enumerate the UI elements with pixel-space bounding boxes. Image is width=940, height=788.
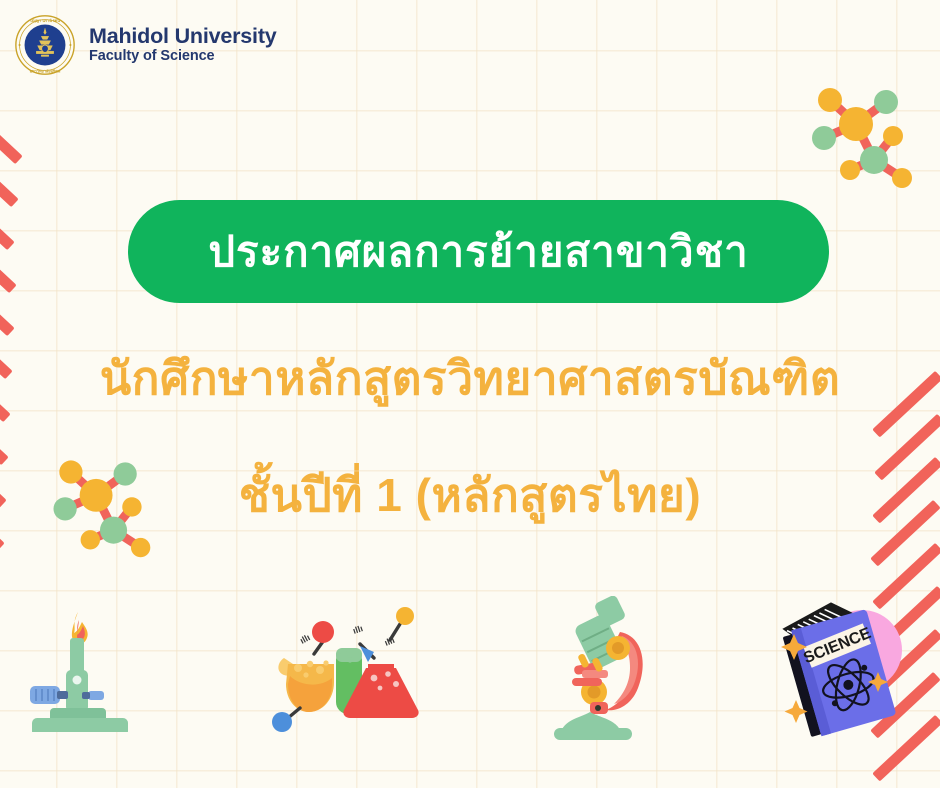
org-name: Mahidol University	[89, 24, 277, 48]
stripe	[0, 183, 15, 250]
stripe	[0, 269, 15, 336]
stripe	[872, 543, 940, 610]
brand-text: Mahidol University Faculty of Science	[89, 24, 277, 66]
svg-text:ıllı: ıllı	[383, 635, 396, 648]
stripe	[0, 140, 19, 207]
org-unit: Faculty of Science	[89, 48, 277, 64]
university-header: ปญฺญา นรานํ รตนํ มหาวิทยาลัยมหิดล Mahido…	[14, 14, 277, 76]
stripe	[872, 715, 940, 782]
stripe	[0, 398, 9, 465]
banner-title: ประกาศผลการย้ายสาขาวิชา	[208, 231, 748, 273]
headline-line-2: ชั้นปีที่ 1 (หลักสูตรไทย)	[0, 472, 940, 518]
stripe	[874, 586, 940, 653]
book-cover-title: SCIENCE	[801, 625, 874, 668]
mahidol-seal-icon: ปญฺญา นรานํ รตนํ มหาวิทยาลัยมหิดล	[14, 14, 76, 76]
svg-text:ıllı: ıllı	[298, 632, 312, 646]
announcement-banner: ประกาศผลการย้ายสาขาวิชา	[128, 200, 829, 303]
decorative-stripes-right	[866, 414, 940, 788]
stripe	[0, 97, 23, 164]
stripe	[874, 414, 940, 481]
decorative-stripes-left	[0, 96, 86, 496]
molecule-illustration-top-right	[796, 74, 922, 192]
microscope-illustration	[546, 596, 674, 742]
lab-glassware-illustration: ıllı ıllı ıllı	[262, 602, 434, 738]
stripe	[0, 226, 17, 293]
science-book-illustration: SCIENCE	[776, 596, 916, 738]
stripe	[870, 672, 940, 739]
stripe	[872, 629, 940, 696]
headline-line-1: นักศึกษาหลักสูตรวิทยาศาสตรบัณฑิต	[0, 355, 940, 401]
svg-text:ıllı: ıllı	[352, 623, 365, 636]
bunsen-burner-illustration	[16, 600, 148, 732]
poster-canvas: ปญฺญา นรานํ รตนํ มหาวิทยาลัยมหิดล Mahido…	[0, 0, 940, 788]
sparkle-icon	[781, 634, 888, 723]
svg-text:มหาวิทยาลัยมหิดล: มหาวิทยาลัยมหิดล	[30, 68, 61, 73]
